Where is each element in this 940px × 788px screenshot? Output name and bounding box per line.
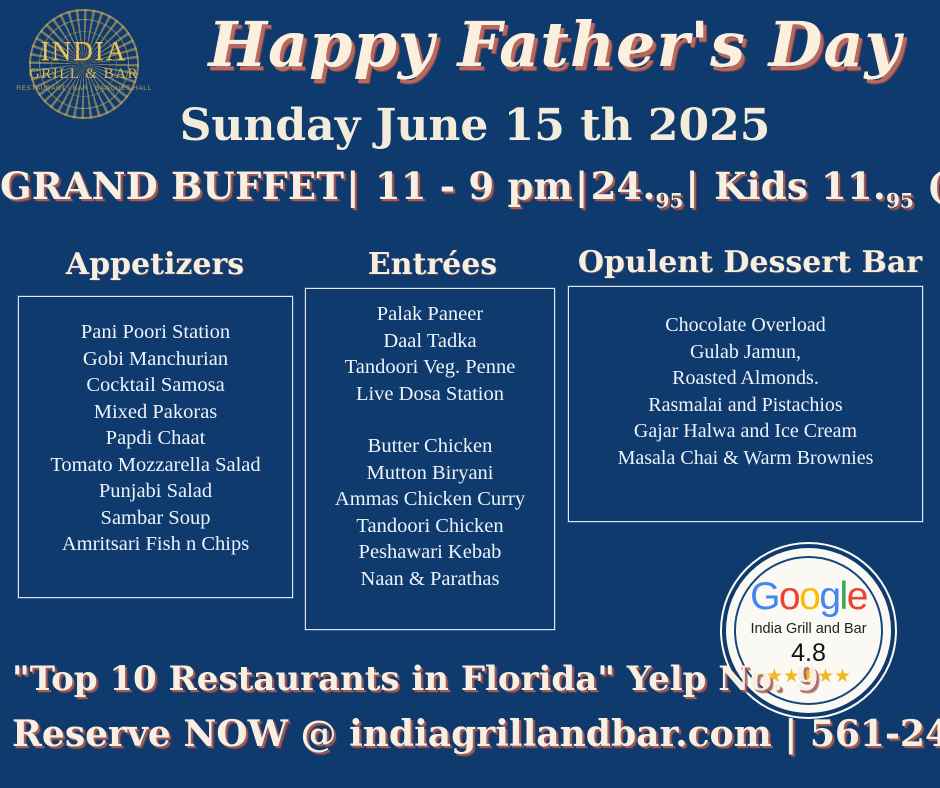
google-letter-o1: o <box>779 575 799 618</box>
list-gap <box>306 407 554 433</box>
logo-text-block: INDIA GRILL & BAR RESTAURANT | BAR | BAN… <box>14 38 154 94</box>
entrees-group-nonveg: Butter ChickenMutton BiryaniAmmas Chicke… <box>306 433 554 592</box>
buffet-label: GRAND BUFFET <box>0 164 344 208</box>
menu-item: Palak Paneer <box>306 301 554 328</box>
google-letter-e: e <box>847 575 867 618</box>
entrees-heading: Entrées <box>300 250 565 280</box>
menu-item: Rasmalai and Pistachios <box>569 392 922 419</box>
google-letter-o2: o <box>799 575 819 618</box>
menu-item: Tandoori Chicken <box>306 513 554 540</box>
menu-item: Chocolate Overload <box>569 312 922 339</box>
menu-item: Gajar Halwa and Ice Cream <box>569 418 922 445</box>
entrees-list: Palak PaneerDaal TadkaTandoori Veg. Penn… <box>306 289 554 592</box>
logo-subtitle: GRILL & BAR <box>14 65 154 84</box>
separator-1: | <box>344 164 362 208</box>
kids-price-cents: 95 <box>886 188 914 212</box>
menu-item: Tandoori Veg. Penne <box>306 354 554 381</box>
kids-age-range: (5-11) <box>927 164 940 208</box>
menu-item: Punjabi Salad <box>19 478 292 505</box>
menu-item: Cocktail Samosa <box>19 372 292 399</box>
menu-item: Mixed Pakoras <box>19 399 292 426</box>
menu-item: Pani Poori Station <box>19 319 292 346</box>
kids-label: Kids <box>714 164 808 208</box>
entrees-group-veg: Palak PaneerDaal TadkaTandoori Veg. Penn… <box>306 301 554 407</box>
menu-item: Peshawari Kebab <box>306 539 554 566</box>
separator-3: | <box>683 164 701 208</box>
flyer-canvas: INDIA GRILL & BAR RESTAURANT | BAR | BAN… <box>0 0 940 788</box>
logo-tagline: RESTAURANT | BAR | BANQUET HALL <box>14 84 154 94</box>
menu-item: Roasted Almonds. <box>569 365 922 392</box>
restaurant-logo: INDIA GRILL & BAR RESTAURANT | BAR | BAN… <box>14 8 154 120</box>
award-text: "Top 10 Restaurants in Florida" Yelp No.… <box>12 662 819 696</box>
buffet-hours: 11 - 9 pm <box>375 164 573 208</box>
menu-item: Masala Chai & Warm Brownies <box>569 445 922 472</box>
reservation-text[interactable]: Reserve NOW @ indiagrillandbar.com | 561… <box>12 716 940 752</box>
badge-business-name: India Grill and Bar <box>750 622 866 638</box>
event-date: Sunday June 15 th 2025 <box>175 104 775 148</box>
desserts-heading: Opulent Dessert Bar <box>565 248 935 278</box>
google-logo-icon: Google <box>750 577 867 616</box>
appetizers-list: Pani Poori StationGobi ManchurianCocktai… <box>19 297 292 558</box>
menu-item: Live Dosa Station <box>306 381 554 408</box>
menu-item: Daal Tadka <box>306 328 554 355</box>
appetizers-heading: Appetizers <box>10 250 300 280</box>
menu-item: Amritsari Fish n Chips <box>19 531 292 558</box>
desserts-list: Chocolate OverloadGulab Jamun,Roasted Al… <box>569 287 922 471</box>
menu-item: Papdi Chaat <box>19 425 292 452</box>
menu-item: Naan & Parathas <box>306 566 554 593</box>
entrees-box: Palak PaneerDaal TadkaTandoori Veg. Penn… <box>305 288 555 630</box>
menu-item: Tomato Mozzarella Salad <box>19 452 292 479</box>
separator-2: | <box>573 164 591 208</box>
kids-price: 11. <box>821 164 886 208</box>
adult-price: 24. <box>591 164 656 208</box>
menu-item: Gulab Jamun, <box>569 339 922 366</box>
buffet-info-line: GRAND BUFFET| 11 - 9 pm|24.95| Kids 11.9… <box>0 168 940 210</box>
desserts-box: Chocolate OverloadGulab Jamun,Roasted Al… <box>568 286 923 522</box>
menu-item: Butter Chicken <box>306 433 554 460</box>
adult-price-cents: 95 <box>656 188 684 212</box>
menu-item: Sambar Soup <box>19 505 292 532</box>
logo-name: INDIA <box>14 38 154 65</box>
google-letter-g: G <box>750 575 779 618</box>
page-title: Happy Father's Day <box>175 12 935 77</box>
google-letter-g2: g <box>819 575 839 618</box>
menu-item: Gobi Manchurian <box>19 346 292 373</box>
menu-item: Ammas Chicken Curry <box>306 486 554 513</box>
google-letter-l: l <box>840 575 847 618</box>
appetizers-box: Pani Poori StationGobi ManchurianCocktai… <box>18 296 293 598</box>
menu-item: Mutton Biryani <box>306 460 554 487</box>
